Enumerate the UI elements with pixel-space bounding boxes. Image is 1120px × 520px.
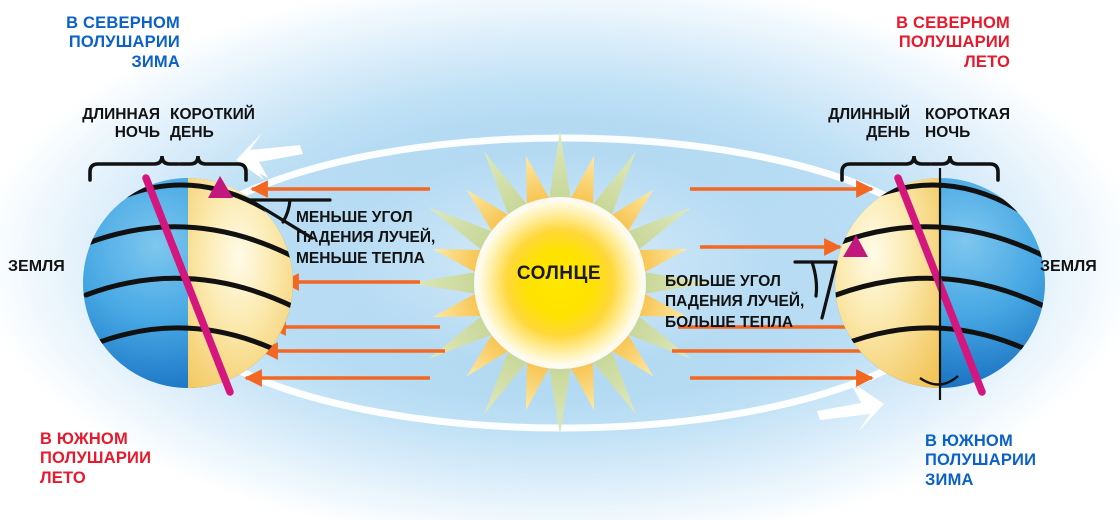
curly-brace-icon-left-day	[180, 156, 246, 180]
label-earth-left: ЗЕМЛЯ	[8, 258, 65, 277]
title-south-hemisphere-summer: В ЮЖНОМ ПОЛУШАРИИ ЛЕТО	[40, 430, 250, 488]
curly-brace-icon-left-night	[90, 156, 178, 180]
title-north-hemisphere-winter: В СЕВЕРНОМ ПОЛУШАРИИ ЗИМА	[20, 14, 180, 72]
message-higher-angle-more-heat: БОЛЬШЕ УГОЛ ПАДЕНИЯ ЛУЧЕЙ, БОЛЬШЕ ТЕПЛА	[665, 272, 865, 333]
label-long-day-right: ДЛИННЫЙ ДЕНЬ	[780, 106, 910, 143]
label-sun: СОЛНЦЕ	[474, 263, 644, 285]
curly-brace-icon-right-night	[932, 156, 998, 180]
title-north-hemisphere-summer: В СЕВЕРНОМ ПОЛУШАРИИ ЛЕТО	[700, 14, 1010, 72]
message-lower-angle-less-heat: МЕНЬШЕ УГОЛ ПАДЕНИЯ ЛУЧЕЙ, МЕНЬШЕ ТЕПЛА	[296, 208, 486, 269]
earth-globe-left	[83, 170, 308, 400]
label-short-day-left: КОРОТКИЙ ДЕНЬ	[170, 106, 280, 143]
curly-brace-icon-right-day	[842, 156, 930, 180]
title-south-hemisphere-winter: В ЮЖНОМ ПОЛУШАРИИ ЗИМА	[925, 432, 1120, 490]
label-long-night-left: ДЛИННАЯ НОЧЬ	[40, 106, 160, 143]
label-earth-right: ЗЕМЛЯ	[1040, 258, 1097, 277]
diagram-canvas: В СЕВЕРНОМ ПОЛУШАРИИ ЗИМА В СЕВЕРНОМ ПОЛ…	[0, 0, 1120, 520]
label-short-night-right: КОРОТКАЯ НОЧЬ	[925, 106, 1055, 143]
